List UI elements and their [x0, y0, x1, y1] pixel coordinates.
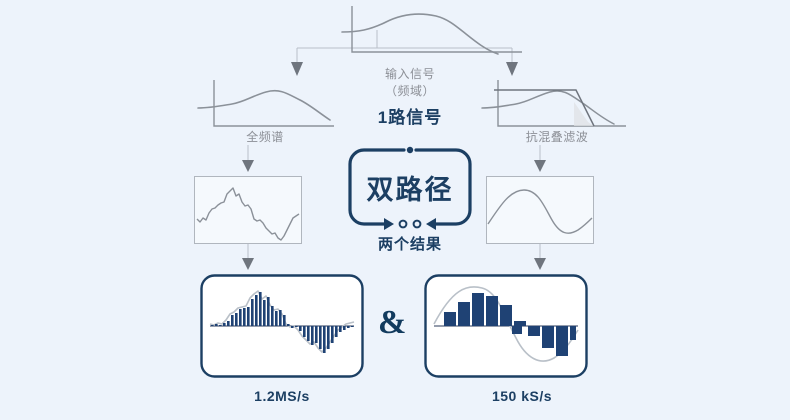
arrow-down-left-1 — [242, 160, 254, 172]
arrow-down-right-2 — [534, 258, 546, 270]
badge-top-dot — [407, 147, 413, 153]
arrow-down-right-1 — [534, 160, 546, 172]
signal-curve — [482, 91, 614, 124]
anti-alias-caption: 抗混叠滤波 — [526, 128, 589, 145]
axis-lines — [214, 80, 334, 126]
arrow-down-left-2 — [242, 258, 254, 270]
spectrum-curve — [342, 14, 498, 54]
input-emphasis-label: 1路信号 — [378, 103, 442, 128]
badge-dot-right — [414, 221, 421, 228]
ampersand-conjunction: & — [378, 304, 406, 342]
decimated-waveform-box — [486, 176, 594, 244]
arrow-inward-right — [426, 218, 436, 230]
result-right-bars-extra — [512, 326, 522, 334]
two-results-label: 两个结果 — [378, 233, 442, 254]
input-spectrum-graph — [340, 2, 530, 58]
result-panel-left — [200, 274, 364, 378]
arrow-down-top-left — [291, 62, 303, 76]
result-left-rate-label: 1.2MS/s — [254, 388, 310, 404]
diagram-canvas: 输入信号 （频域） 1路信号 全频谱 抗混叠滤波 双路径 两个结果 — [0, 0, 790, 420]
waveform-box-frame — [487, 177, 594, 244]
dual-path-badge-text: 双路径 — [367, 168, 454, 207]
input-caption-line2: （频域） — [385, 83, 435, 99]
badge-dot-left — [400, 221, 407, 228]
arrow-inward-left — [384, 218, 394, 230]
result-right-rate-label: 150 kS/s — [492, 388, 552, 404]
full-spectrum-caption: 全频谱 — [246, 128, 284, 145]
spectrum-curve — [198, 91, 330, 120]
input-caption-line1: 输入信号 — [385, 66, 435, 82]
axis-lines — [352, 6, 522, 52]
full-rate-waveform-box — [194, 176, 302, 244]
arrow-down-top-right — [506, 62, 518, 76]
result-panel-right — [424, 274, 588, 378]
